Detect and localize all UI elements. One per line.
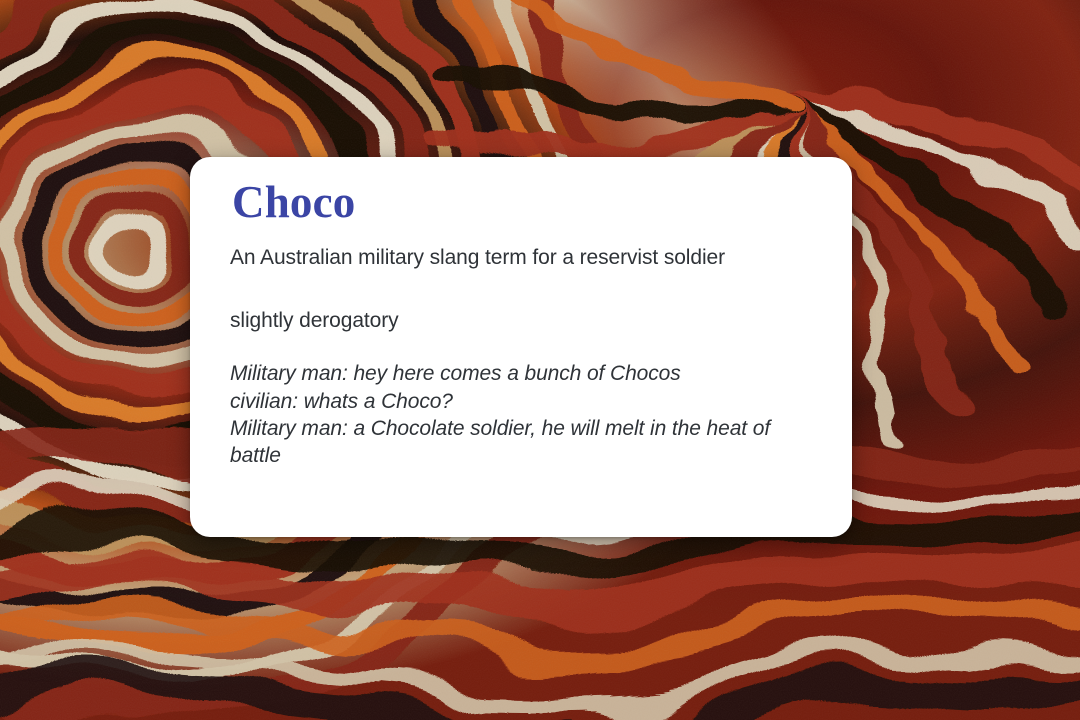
page-title: Choco (232, 179, 818, 227)
example-line: civilian: whats a Choco? (230, 388, 818, 415)
example-line: Military man: hey here comes a bunch of … (230, 360, 818, 387)
definition-text: An Australian military slang term for a … (230, 245, 755, 272)
tone-note: slightly derogatory (230, 308, 818, 335)
example-line: Military man: a Chocolate soldier, he wi… (230, 415, 818, 470)
definition-card: Choco An Australian military slang term … (190, 157, 852, 537)
example-block: Military man: hey here comes a bunch of … (230, 360, 818, 469)
screenshot-canvas: Choco An Australian military slang term … (0, 0, 1080, 720)
